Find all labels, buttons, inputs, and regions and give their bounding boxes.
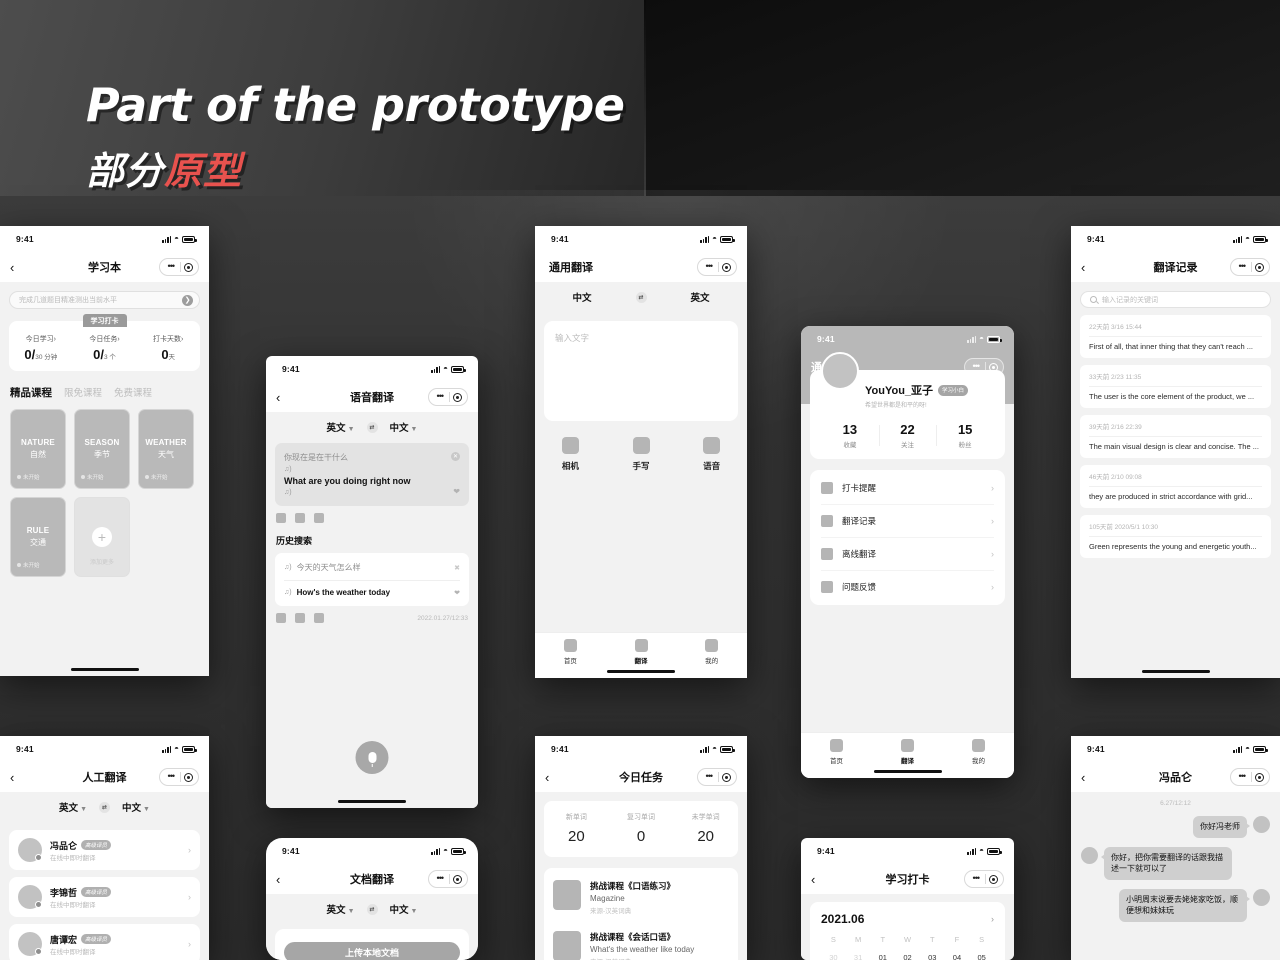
- home-icon: [830, 739, 843, 752]
- close-target-icon[interactable]: [722, 263, 731, 272]
- history-section-title: 历史搜索: [276, 534, 478, 547]
- mini-program-capsule[interactable]: •••: [159, 258, 199, 276]
- translator-item[interactable]: 冯品仑高级译员 在线中即时翻译 ›: [9, 830, 200, 870]
- page-title-cn-part-a: 部分: [86, 151, 164, 193]
- record-item[interactable]: 33天前 2/23 11:35 The user is the core ele…: [1080, 365, 1271, 408]
- close-target-icon[interactable]: [453, 875, 462, 884]
- close-target-icon[interactable]: [453, 393, 462, 402]
- language-to[interactable]: 中文▼: [122, 800, 150, 814]
- home-indicator: [1142, 670, 1210, 674]
- battery-icon: [1253, 746, 1266, 753]
- back-icon[interactable]: ‹: [811, 873, 827, 886]
- more-icon[interactable]: •••: [970, 361, 982, 373]
- course-status: 未开始: [145, 473, 168, 481]
- swap-languages-icon[interactable]: ⇄: [367, 422, 378, 433]
- input-placeholder: 输入文字: [555, 333, 589, 343]
- signal-icon: [1233, 236, 1242, 243]
- person-icon: [972, 739, 985, 752]
- status-icons: ◓: [1233, 745, 1266, 753]
- course-card-inner: SEASON 季节 未开始: [78, 413, 126, 485]
- more-icon[interactable]: •••: [970, 873, 982, 885]
- menu-item-feedback[interactable]: 问题反馈›: [821, 570, 994, 603]
- weekday-label: W: [895, 935, 920, 944]
- more-icon[interactable]: •••: [703, 261, 715, 273]
- stat-number: 20: [544, 828, 609, 845]
- chevron-right-icon: ›: [188, 892, 191, 902]
- action-label: 语音: [703, 460, 720, 472]
- home-indicator: [874, 770, 942, 774]
- microphone-button[interactable]: [356, 741, 389, 774]
- more-icon[interactable]: •••: [434, 873, 446, 885]
- more-icon[interactable]: •••: [1236, 261, 1248, 273]
- weekday-label: M: [846, 935, 871, 944]
- more-icon[interactable]: •••: [165, 261, 177, 273]
- word-stats-card: 新单词20 复习单词0 未学单词20: [544, 801, 738, 857]
- translation-input-box[interactable]: 输入文字: [544, 321, 738, 421]
- signal-icon: [431, 848, 440, 855]
- translate-icon: [635, 639, 648, 652]
- chevron-down-icon: ▼: [80, 806, 87, 813]
- wifi-icon: ◓: [712, 745, 717, 753]
- nav-bar: ‹ 今日任务 •••: [535, 762, 747, 792]
- mini-program-capsule[interactable]: •••: [1230, 258, 1270, 276]
- stat-value: 0天: [136, 347, 200, 362]
- battery-icon: [720, 746, 733, 753]
- chevron-down-icon: ▼: [411, 908, 418, 915]
- calendar-day[interactable]: 05: [969, 953, 994, 960]
- status-icons: ◓: [162, 745, 195, 753]
- screen-body: 完成几道题目精准测出当前水平 ❯ 学习打卡 今日学习› 0/30 分钟 今日任务…: [0, 282, 209, 676]
- language-to[interactable]: 中文▼: [390, 420, 418, 434]
- avatar[interactable]: [1253, 816, 1270, 833]
- record-item[interactable]: 22天前 3/16 15:44 First of all, that inner…: [1080, 315, 1271, 358]
- more-icon[interactable]: •••: [1236, 771, 1248, 783]
- wifi-icon: ◓: [712, 235, 717, 243]
- fullscreen-icon[interactable]: [314, 513, 324, 523]
- language-from[interactable]: 英文▼: [327, 902, 355, 916]
- message-bubble: 你好，把你需要翻译的话跟我描述一下就可以了: [1104, 847, 1232, 880]
- capsule-divider: [985, 874, 986, 884]
- back-icon[interactable]: ‹: [276, 873, 292, 886]
- divider: [1089, 486, 1262, 487]
- back-icon[interactable]: ‹: [10, 261, 26, 274]
- menu-item-offline-translation[interactable]: 离线翻译›: [821, 537, 994, 570]
- calendar-day[interactable]: 04: [945, 953, 970, 960]
- add-course-inner: + 添加更多: [78, 501, 126, 573]
- favorite-icon[interactable]: ❤: [454, 589, 460, 597]
- course-category-tabs: 精品课程 限免课程 免费课程: [10, 385, 209, 400]
- calendar-card: 2021.06 › S M T W T F S 30 31 01 02 03 0…: [810, 902, 1005, 960]
- next-month-icon[interactable]: ›: [991, 914, 994, 924]
- calendar-day[interactable]: 02: [895, 953, 920, 960]
- record-meta: 46天前 2/10 09:08: [1089, 471, 1262, 481]
- menu-item-checkin-reminder[interactable]: 打卡提醒›: [821, 472, 994, 504]
- chevron-right-icon: ›: [991, 582, 994, 592]
- stat-checkin-days[interactable]: 打卡天数› 0天: [136, 334, 200, 362]
- stat-label: 粉丝: [936, 439, 994, 449]
- status-time: 9:41: [551, 234, 569, 244]
- phone-today-task: 9:41 ◓ ‹ 今日任务 ••• 新单词20 复习单词0 未学单词20 挑战课…: [535, 736, 747, 960]
- action-label: 手写: [633, 460, 650, 472]
- tab-premium-courses[interactable]: 精品课程: [10, 385, 52, 400]
- nav-bar: ‹ 文档翻译 •••: [266, 864, 478, 894]
- screen-body: YouYou_亚子 学习小白 希望世界都是和平的呀! 13收藏 22关注 15粉…: [801, 404, 1014, 778]
- home-indicator: [338, 800, 406, 804]
- screen-body: 输入记录的关键词 22天前 3/16 15:44 First of all, t…: [1071, 282, 1280, 678]
- tab-profile[interactable]: 我的: [943, 739, 1014, 765]
- battery-icon: [987, 848, 1000, 855]
- profile-stats: 13收藏 22关注 15粉丝: [821, 422, 994, 449]
- swap-languages-icon[interactable]: ⇄: [367, 904, 378, 915]
- fullscreen-icon[interactable]: [314, 613, 324, 623]
- screen-body: 6.27/12:12 你好冯老师 你好，把你需要翻译的话跟我描述一下就可以了 小…: [1071, 792, 1280, 960]
- task-thumbnail: [553, 880, 581, 910]
- stat-number: 0: [609, 828, 674, 845]
- favorite-icon[interactable]: ❤: [453, 487, 460, 496]
- translator-name: 冯品仑高级译员: [50, 839, 180, 852]
- translator-level-badge: 高级译员: [81, 840, 111, 850]
- level-test-entry[interactable]: 完成几道题目精准测出当前水平 ❯: [9, 291, 200, 309]
- chevron-right-icon: ›: [991, 516, 994, 526]
- tab-translate[interactable]: 翻译: [606, 639, 677, 665]
- microphone-icon: [368, 752, 376, 763]
- tab-home[interactable]: 首页: [801, 739, 872, 765]
- back-icon[interactable]: ‹: [276, 391, 292, 404]
- add-course-label: 添加更多: [90, 557, 114, 566]
- stat-value: 0/30 分钟: [9, 347, 73, 362]
- battery-icon: [182, 746, 195, 753]
- wifi-icon: ◓: [174, 745, 179, 753]
- phone-chat: 9:41 ◓ ‹ 冯品仑 ••• 6.27/12:12 你好冯老师 你好，把你需…: [1071, 736, 1280, 960]
- record-item[interactable]: 39天前 2/16 22:39 The main visual design i…: [1080, 415, 1271, 458]
- menu-label: 打卡提醒: [842, 482, 982, 494]
- history-item[interactable]: ♫) How's the weather today ❤: [284, 580, 460, 604]
- close-target-icon[interactable]: [1255, 773, 1264, 782]
- mini-program-capsule[interactable]: •••: [159, 768, 199, 786]
- close-target-icon[interactable]: [989, 875, 998, 884]
- screen-body: 英文▼ ⇄ 中文▼ 冯品仑高级译员 在线中即时翻译 › 李锦哲高级译员 在线中即…: [0, 792, 209, 960]
- status-bar: 9:41 ◓: [0, 736, 209, 762]
- weekday-label: S: [969, 935, 994, 944]
- level-test-label: 完成几道题目精准测出当前水平: [19, 295, 182, 305]
- weekday-label: S: [821, 935, 846, 944]
- copy-icon[interactable]: [276, 613, 286, 623]
- home-indicator: [71, 668, 139, 672]
- avatar: [18, 838, 42, 862]
- back-icon[interactable]: ‹: [1081, 261, 1097, 274]
- translator-status: 在线中即时翻译: [50, 949, 96, 956]
- translator-level-badge: 高级译员: [81, 934, 111, 944]
- backdrop-right-wall: [645, 0, 1280, 215]
- record-text: The main visual design is clear and conc…: [1089, 442, 1262, 451]
- speaker-icon[interactable]: ♫): [284, 466, 460, 473]
- speaker-icon[interactable]: ♫): [284, 589, 292, 596]
- plus-icon[interactable]: +: [92, 527, 112, 547]
- task-title: 挑战课程《口语练习》: [590, 880, 675, 892]
- action-label: 相机: [562, 460, 579, 472]
- status-time: 9:41: [817, 846, 835, 856]
- upload-local-document-button[interactable]: 上传本地文档: [284, 942, 460, 960]
- chevron-down-icon: ▼: [143, 806, 150, 813]
- stat-label: 今日学习›: [9, 334, 73, 344]
- avatar[interactable]: [1253, 889, 1270, 906]
- more-icon[interactable]: •••: [434, 391, 446, 403]
- task-item[interactable]: 挑战课程《会话口语》 What's the weather like today…: [553, 923, 729, 960]
- swap-languages-icon[interactable]: ⇄: [99, 802, 110, 813]
- mini-program-capsule[interactable]: •••: [964, 870, 1004, 888]
- profile-name-line: YouYou_亚子 学习小白: [865, 382, 994, 398]
- tab-label: 翻译: [901, 755, 914, 765]
- back-icon[interactable]: ‹: [10, 771, 26, 784]
- calendar-year-month: 2021.06: [821, 912, 864, 926]
- stat-number: 13: [821, 422, 879, 437]
- page-title-cn-part-b: 原型: [164, 151, 242, 193]
- add-course-card[interactable]: + 添加更多: [74, 497, 130, 577]
- result-source-text: 你现在是在干什么: [284, 452, 460, 463]
- stat-today-study[interactable]: 今日学习› 0/30 分钟: [9, 334, 73, 362]
- copy-icon[interactable]: [276, 513, 286, 523]
- share-icon[interactable]: [295, 613, 305, 623]
- menu-label: 离线翻译: [842, 548, 982, 560]
- stat-followers[interactable]: 15粉丝: [936, 422, 994, 449]
- tab-label: 首页: [830, 755, 843, 765]
- course-card[interactable]: WEATHER 天气 未开始: [138, 409, 194, 489]
- chevron-down-icon: ▼: [411, 426, 418, 433]
- record-text: they are produced in strict accordance w…: [1089, 492, 1262, 501]
- close-target-icon[interactable]: [722, 773, 731, 782]
- calendar-day[interactable]: 31: [846, 953, 871, 960]
- signal-icon: [431, 366, 440, 373]
- translator-item[interactable]: 唐谭宏高级译员 在线中即时翻译 ›: [9, 924, 200, 960]
- history-timestamp: 2022.01.27/12:33: [417, 615, 468, 622]
- profile-level-badge: 学习小白: [938, 385, 968, 396]
- tab-home[interactable]: 首页: [535, 639, 606, 665]
- task-list: 挑战课程《口语练习》 Magazine 来源-汉英词典 挑战课程《会话口语》 W…: [544, 868, 738, 960]
- course-title-en: SEASON: [85, 438, 120, 447]
- course-status: 未开始: [17, 561, 40, 569]
- speaker-icon[interactable]: ♫): [284, 489, 460, 496]
- capsule-divider: [718, 262, 719, 272]
- stat-label: 今日任务›: [73, 334, 137, 344]
- mini-program-capsule[interactable]: •••: [697, 768, 737, 786]
- stat-label: 收藏: [821, 439, 879, 449]
- translate-icon: [901, 739, 914, 752]
- task-source: 来源-汉英词典: [590, 956, 694, 960]
- result-action-icons: [276, 513, 478, 523]
- status-bar: 9:41 ◓: [266, 838, 478, 864]
- tab-label: 我的: [972, 755, 985, 765]
- course-title-cn: 自然: [30, 449, 46, 460]
- translation-result-card: ✕ 你现在是在干什么 ♫) What are you doing right n…: [275, 443, 469, 506]
- translator-status: 在线中即时翻译: [50, 855, 96, 862]
- more-icon[interactable]: •••: [703, 771, 715, 783]
- signal-icon: [162, 746, 171, 753]
- course-card-inner: WEATHER 天气 未开始: [142, 413, 190, 485]
- status-icons: ◓: [700, 235, 733, 243]
- mini-program-capsule[interactable]: •••: [964, 358, 1004, 376]
- translator-info: 李锦哲高级译员 在线中即时翻译: [50, 886, 180, 909]
- language-to[interactable]: 英文: [691, 290, 710, 304]
- translator-status: 在线中即时翻译: [50, 902, 96, 909]
- battery-icon: [1253, 236, 1266, 243]
- stat-following[interactable]: 22关注: [879, 422, 937, 449]
- history-item[interactable]: ♫) 今天的天气怎么样 ✖: [284, 555, 460, 580]
- history-list: ♫) 今天的天气怎么样 ✖ ♫) How's the weather today…: [275, 553, 469, 606]
- stat-new-words: 新单词20: [544, 812, 609, 845]
- battery-icon: [720, 236, 733, 243]
- backdrop-corner-edge: [644, 0, 646, 196]
- chat-message-outgoing: 小明周末说要去姥姥家吃饭，顺便想和妹妹玩: [1081, 889, 1270, 922]
- mini-program-capsule[interactable]: •••: [428, 388, 468, 406]
- mini-program-capsule[interactable]: •••: [697, 258, 737, 276]
- status-bar: 9:41 ◓: [0, 226, 209, 252]
- language-from[interactable]: 中文: [572, 290, 591, 304]
- back-icon[interactable]: ‹: [1081, 771, 1097, 784]
- record-item[interactable]: 46天前 2/10 09:08 they are produced in str…: [1080, 465, 1271, 508]
- stat-value: 0/3 个: [73, 347, 137, 362]
- history-action-icons: [276, 613, 324, 623]
- avatar[interactable]: [821, 352, 859, 390]
- course-title-en: WEATHER: [145, 438, 186, 447]
- more-icon[interactable]: •••: [165, 771, 177, 783]
- task-subtitle: Magazine: [590, 894, 675, 903]
- record-meta: 39天前 2/16 22:39: [1089, 421, 1262, 431]
- wifi-icon: ◓: [979, 847, 984, 855]
- tab-translate[interactable]: 翻译: [872, 739, 943, 765]
- page-title-cn: 部分原型: [86, 140, 625, 195]
- record-text: First of all, that inner thing that they…: [1089, 342, 1262, 351]
- home-icon: [564, 639, 577, 652]
- chat-message-outgoing: 你好冯老师: [1081, 816, 1270, 838]
- avatar[interactable]: [1081, 847, 1098, 864]
- divider: [1089, 386, 1262, 387]
- capsule-divider: [1251, 772, 1252, 782]
- study-stats-card: 学习打卡 今日学习› 0/30 分钟 今日任务› 0/3 个 打卡天数› 0天: [9, 321, 200, 371]
- menu-item-translation-records[interactable]: 翻译记录›: [821, 504, 994, 537]
- capsule-divider: [718, 772, 719, 782]
- download-icon: [821, 548, 833, 560]
- person-icon: [705, 639, 718, 652]
- nav-bar: ‹ 语音翻译 •••: [266, 382, 478, 412]
- tab-label: 翻译: [635, 655, 648, 665]
- back-icon[interactable]: ‹: [545, 771, 561, 784]
- status-icons: ◓: [431, 365, 464, 373]
- wifi-icon: ◓: [174, 235, 179, 243]
- action-handwriting[interactable]: 手写: [606, 437, 677, 472]
- translator-name: 李锦哲高级译员: [50, 886, 180, 899]
- course-status: 未开始: [17, 473, 40, 481]
- share-icon[interactable]: [295, 513, 305, 523]
- close-target-icon[interactable]: [1255, 263, 1264, 272]
- wifi-icon: ◓: [443, 365, 448, 373]
- translator-item[interactable]: 李锦哲高级译员 在线中即时翻译 ›: [9, 877, 200, 917]
- course-card[interactable]: RULE 交通 未开始: [10, 497, 66, 577]
- calendar-weekdays: S M T W T F S: [821, 935, 994, 944]
- course-title-cn: 交通: [30, 537, 46, 548]
- chevron-right-icon: ›: [991, 483, 994, 493]
- profile-card: YouYou_亚子 学习小白 希望世界都是和平的呀! 13收藏 22关注 15粉…: [810, 370, 1005, 459]
- action-camera[interactable]: 相机: [535, 437, 606, 472]
- stat-review-words: 复习单词0: [609, 812, 674, 845]
- bell-icon: [821, 482, 833, 494]
- profile-menu-list: 打卡提醒› 翻译记录› 离线翻译› 问题反馈›: [810, 470, 1005, 605]
- stat-label: 新单词: [544, 812, 609, 822]
- camera-icon: [562, 437, 579, 454]
- mini-program-capsule[interactable]: •••: [428, 870, 468, 888]
- chat-date-divider: 6.27/12:12: [1071, 800, 1280, 807]
- calendar-day[interactable]: 30: [821, 953, 846, 960]
- course-card[interactable]: NATURE 自然 未开始: [10, 409, 66, 489]
- status-bar: 9:41 ◓: [535, 736, 747, 762]
- tab-free-courses[interactable]: 免费课程: [114, 385, 152, 399]
- stat-number: 22: [879, 422, 937, 437]
- language-from[interactable]: 英文▼: [327, 420, 355, 434]
- signal-icon: [700, 746, 709, 753]
- page-title: 通用翻译: [545, 259, 593, 275]
- language-to[interactable]: 中文▼: [390, 902, 418, 916]
- status-time: 9:41: [551, 744, 569, 754]
- calendar-day[interactable]: 03: [920, 953, 945, 960]
- capsule-divider: [180, 262, 181, 272]
- action-voice[interactable]: 语音: [676, 437, 747, 472]
- divider: [1089, 436, 1262, 437]
- search-input[interactable]: 输入记录的关键词: [1080, 291, 1271, 308]
- stat-today-task[interactable]: 今日任务› 0/3 个: [73, 334, 137, 362]
- calendar-day[interactable]: 01: [870, 953, 895, 960]
- mini-program-capsule[interactable]: •••: [1230, 768, 1270, 786]
- signal-icon: [700, 236, 709, 243]
- status-time: 9:41: [817, 334, 835, 344]
- task-item[interactable]: 挑战课程《口语练习》 Magazine 来源-汉英词典: [553, 872, 729, 923]
- close-target-icon[interactable]: [184, 773, 193, 782]
- speaker-icon[interactable]: ♫): [284, 564, 292, 571]
- capsule-divider: [985, 362, 986, 372]
- record-item[interactable]: 105天前 2020/5/1 10:30 Green represents th…: [1080, 515, 1271, 558]
- chevron-right-icon: ›: [188, 939, 191, 949]
- record-text: The user is the core element of the prod…: [1089, 392, 1262, 401]
- phone-human-translation: 9:41 ◓ ‹ 人工翻译 ••• 英文▼ ⇄ 中文▼ 冯品仑高级译员 在线中即…: [0, 736, 209, 960]
- close-icon[interactable]: ✖: [454, 564, 460, 572]
- tab-profile[interactable]: 我的: [676, 639, 747, 665]
- language-from[interactable]: 英文▼: [59, 800, 87, 814]
- capsule-divider: [449, 874, 450, 884]
- phone-profile: 9:41 ◓ 通用翻译 ••• YouYou_亚子 学习小白 希望世界都是和平的…: [801, 326, 1014, 778]
- nav-bar: 通用翻译 •••: [535, 252, 747, 282]
- chevron-right-icon[interactable]: ❯: [182, 295, 193, 306]
- status-icons: ◓: [967, 847, 1000, 855]
- swap-languages-icon[interactable]: ⇄: [636, 292, 647, 303]
- wifi-icon: ◓: [1245, 235, 1250, 243]
- phone-voice-translation: 9:41 ◓ ‹ 语音翻译 ••• 英文▼ ⇄ 中文▼ ✕ 你现在是在干什么 ♫…: [266, 356, 478, 808]
- status-dot-icon: [17, 563, 21, 567]
- screen-body: 英文▼ ⇄ 中文▼ 上传本地文档: [266, 894, 478, 960]
- course-card[interactable]: SEASON 季节 未开始: [74, 409, 130, 489]
- language-selector-bar: 英文▼ ⇄ 中文▼: [266, 412, 478, 443]
- close-icon[interactable]: ✕: [451, 452, 460, 461]
- menu-label: 翻译记录: [842, 515, 982, 527]
- battery-icon: [451, 366, 464, 373]
- screen-body: 2021.06 › S M T W T F S 30 31 01 02 03 0…: [801, 894, 1014, 960]
- close-target-icon[interactable]: [989, 363, 998, 372]
- close-target-icon[interactable]: [184, 263, 193, 272]
- stat-favorites[interactable]: 13收藏: [821, 422, 879, 449]
- message-bubble: 小明周末说要去姥姥家吃饭，顺便想和妹妹玩: [1119, 889, 1247, 922]
- tab-label: 首页: [564, 655, 577, 665]
- tab-limited-free-courses[interactable]: 限免课程: [64, 385, 102, 399]
- capsule-divider: [449, 392, 450, 402]
- course-card-inner: NATURE 自然 未开始: [14, 413, 62, 485]
- nav-bar: ‹ 翻译记录 •••: [1071, 252, 1280, 282]
